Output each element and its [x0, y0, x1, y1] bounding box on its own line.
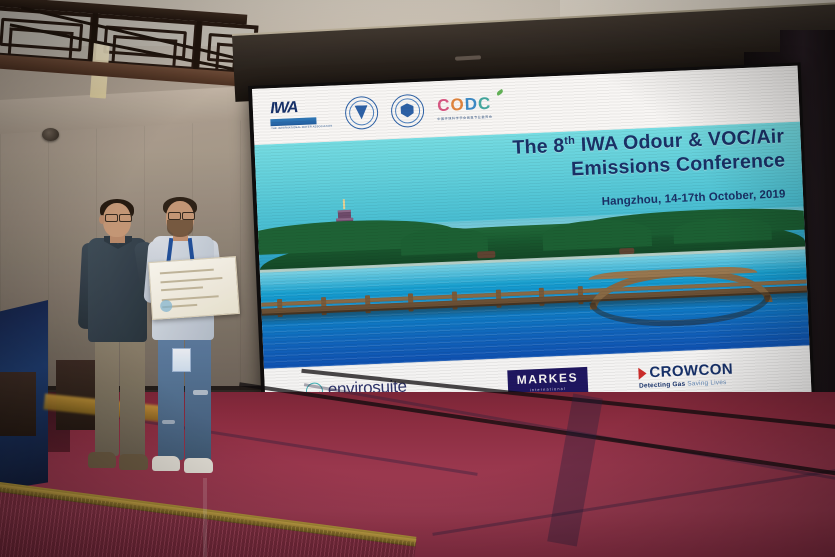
left-leg: [95, 336, 119, 456]
ceiling-spotlight-icon: [42, 128, 59, 141]
codc-logo-subtitle: 中国环境科学学会恶臭专业委员会: [437, 114, 492, 121]
conference-photo-scene: IWA THE INTERNATIONAL WATER ASSOCIATION …: [0, 0, 835, 557]
crowcon-word: CROWCON: [649, 362, 733, 381]
markes-word: MARKES: [516, 371, 578, 386]
lakeside-pavilion: [478, 251, 496, 259]
iwa-logo: IWA THE INTERNATIONAL WATER ASSOCIATION: [270, 99, 333, 131]
right-leg: [120, 336, 145, 458]
glasses-icon: [105, 214, 118, 222]
glasses-icon: [182, 212, 195, 220]
left-shoe: [88, 452, 116, 468]
conference-badge: [172, 348, 191, 372]
award-certificate: [148, 256, 240, 320]
floor-speaker: [0, 372, 36, 436]
seal-logo-1: [344, 95, 378, 129]
codc-logo-word: CODC: [437, 95, 492, 114]
left-shoe: [152, 456, 180, 471]
seal-logo-2: [390, 93, 424, 127]
glasses-icon: [119, 214, 132, 222]
iwa-logo-word: IWA: [270, 100, 298, 117]
organizer-logos: IWA THE INTERNATIONAL WATER ASSOCIATION …: [270, 83, 493, 140]
codc-logo: CODC 中国环境科学学会恶臭专业委员会: [436, 95, 492, 121]
lakeside-pavilion: [619, 248, 634, 255]
certificate-seal-icon: [160, 300, 173, 313]
glasses-icon: [168, 212, 181, 220]
decorative-lattice-screen: [0, 0, 241, 132]
jeans-rip: [193, 390, 208, 395]
crowcon-arrow-icon: [638, 367, 647, 379]
beard: [167, 220, 193, 237]
sponsor-crowcon: CROWCON Detecting Gas Saving Lives: [638, 362, 734, 390]
right-shoe: [119, 454, 148, 470]
right-shoe: [184, 458, 213, 473]
jeans-rip: [162, 420, 175, 424]
